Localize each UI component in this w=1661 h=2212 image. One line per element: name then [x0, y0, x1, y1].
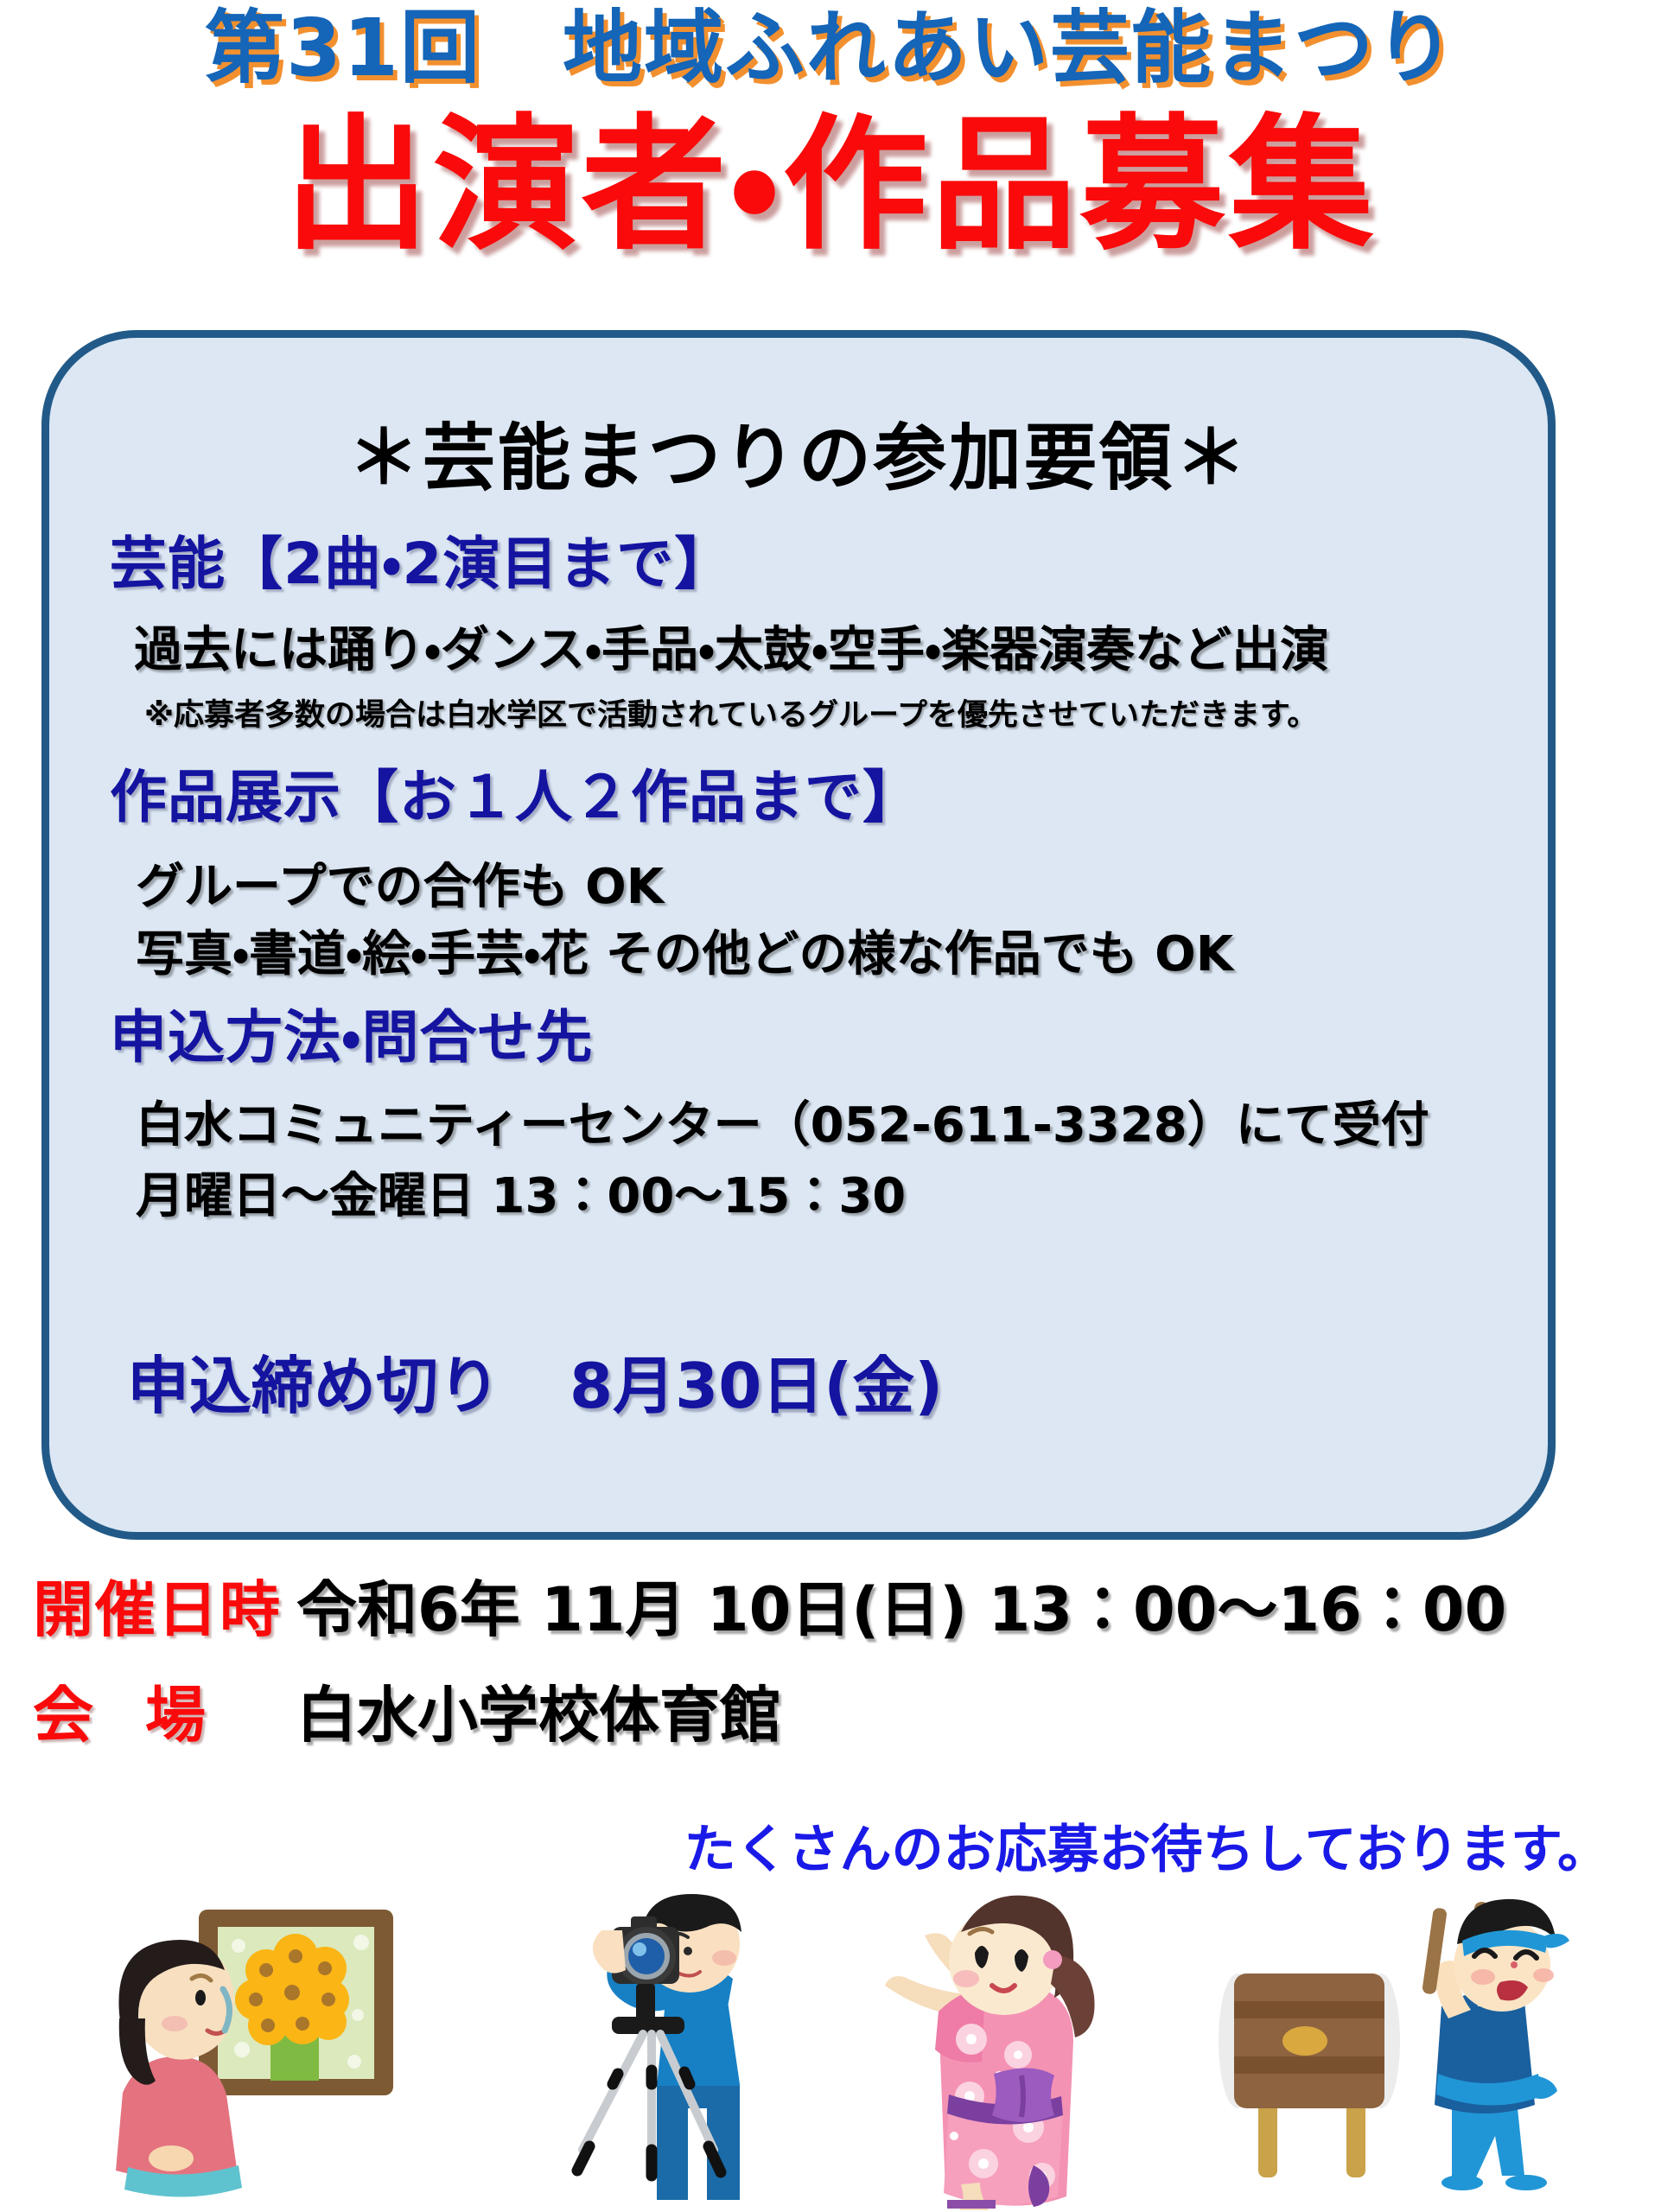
section-line-application-1: 白水コミュニティーセンター（052-611-3328）にて受付	[136, 1086, 1429, 1156]
deadline-value: 8月30日(金)	[570, 1350, 943, 1422]
participation-info-box: ＊芸能まつりの参加要領＊ 芸能【2曲・2演目まで】 過去には踊り・ダンス・手品・…	[41, 330, 1556, 1540]
section-line-exhibit-1: グループでの合作も OK	[136, 848, 664, 918]
section-line-performance-1: 過去には踊り・ダンス・手品・太鼓・空手・楽器演奏など出演	[134, 611, 1328, 681]
event-venue-row: 会場白水小学校体育館	[33, 1685, 780, 1745]
application-deadline-row: 申込締め切り8月30日(金)	[127, 1335, 943, 1426]
section-line-exhibit-2: 写真・書道・絵・手芸・花 その他どの様な作品でも OK	[136, 915, 1233, 985]
event-datetime-row: 開催日時令和6年 11月 10日(日) 13：00～16：00	[33, 1580, 1506, 1640]
section-heading-exhibit: 作品展示【お１人２作品まで】	[110, 751, 920, 834]
page-title: 第31回 地域ふれあい芸能まつり	[0, 5, 1661, 91]
closing-note: たくさんのお応募お待ちしております。	[684, 1808, 1609, 1883]
girl-dancing-in-yukata-icon	[864, 1891, 1184, 2212]
photographer-with-tripod-camera-icon	[536, 1891, 856, 2212]
event-venue-label: 会場	[33, 1685, 296, 1745]
section-heading-performance: 芸能【2曲・2演目まで】	[110, 518, 732, 601]
boy-playing-taiko-drum-icon	[1193, 1892, 1573, 2212]
event-datetime-value: 令和6年 11月 10日(日) 13：00～16：00	[296, 1574, 1506, 1645]
section-note-performance: ※応募者多数の場合は白水学区で活動されているグループを優先させていただきます。	[144, 690, 1317, 734]
section-heading-application: 申込方法・問合せ先	[110, 991, 593, 1074]
section-line-application-2: 月曜日～金曜日 13：00～15：30	[136, 1157, 906, 1227]
event-venue-value: 白水小学校体育館	[296, 1680, 780, 1751]
illustration-strip	[0, 1884, 1661, 2212]
deadline-label: 申込締め切り	[127, 1350, 500, 1422]
woman-viewing-framed-flower-painting-icon	[69, 1892, 458, 2212]
headline: 出演者・作品募集	[0, 104, 1661, 266]
event-datetime-label: 開催日時	[33, 1580, 296, 1640]
info-box-heading: ＊芸能まつりの参加要領＊	[49, 400, 1548, 505]
